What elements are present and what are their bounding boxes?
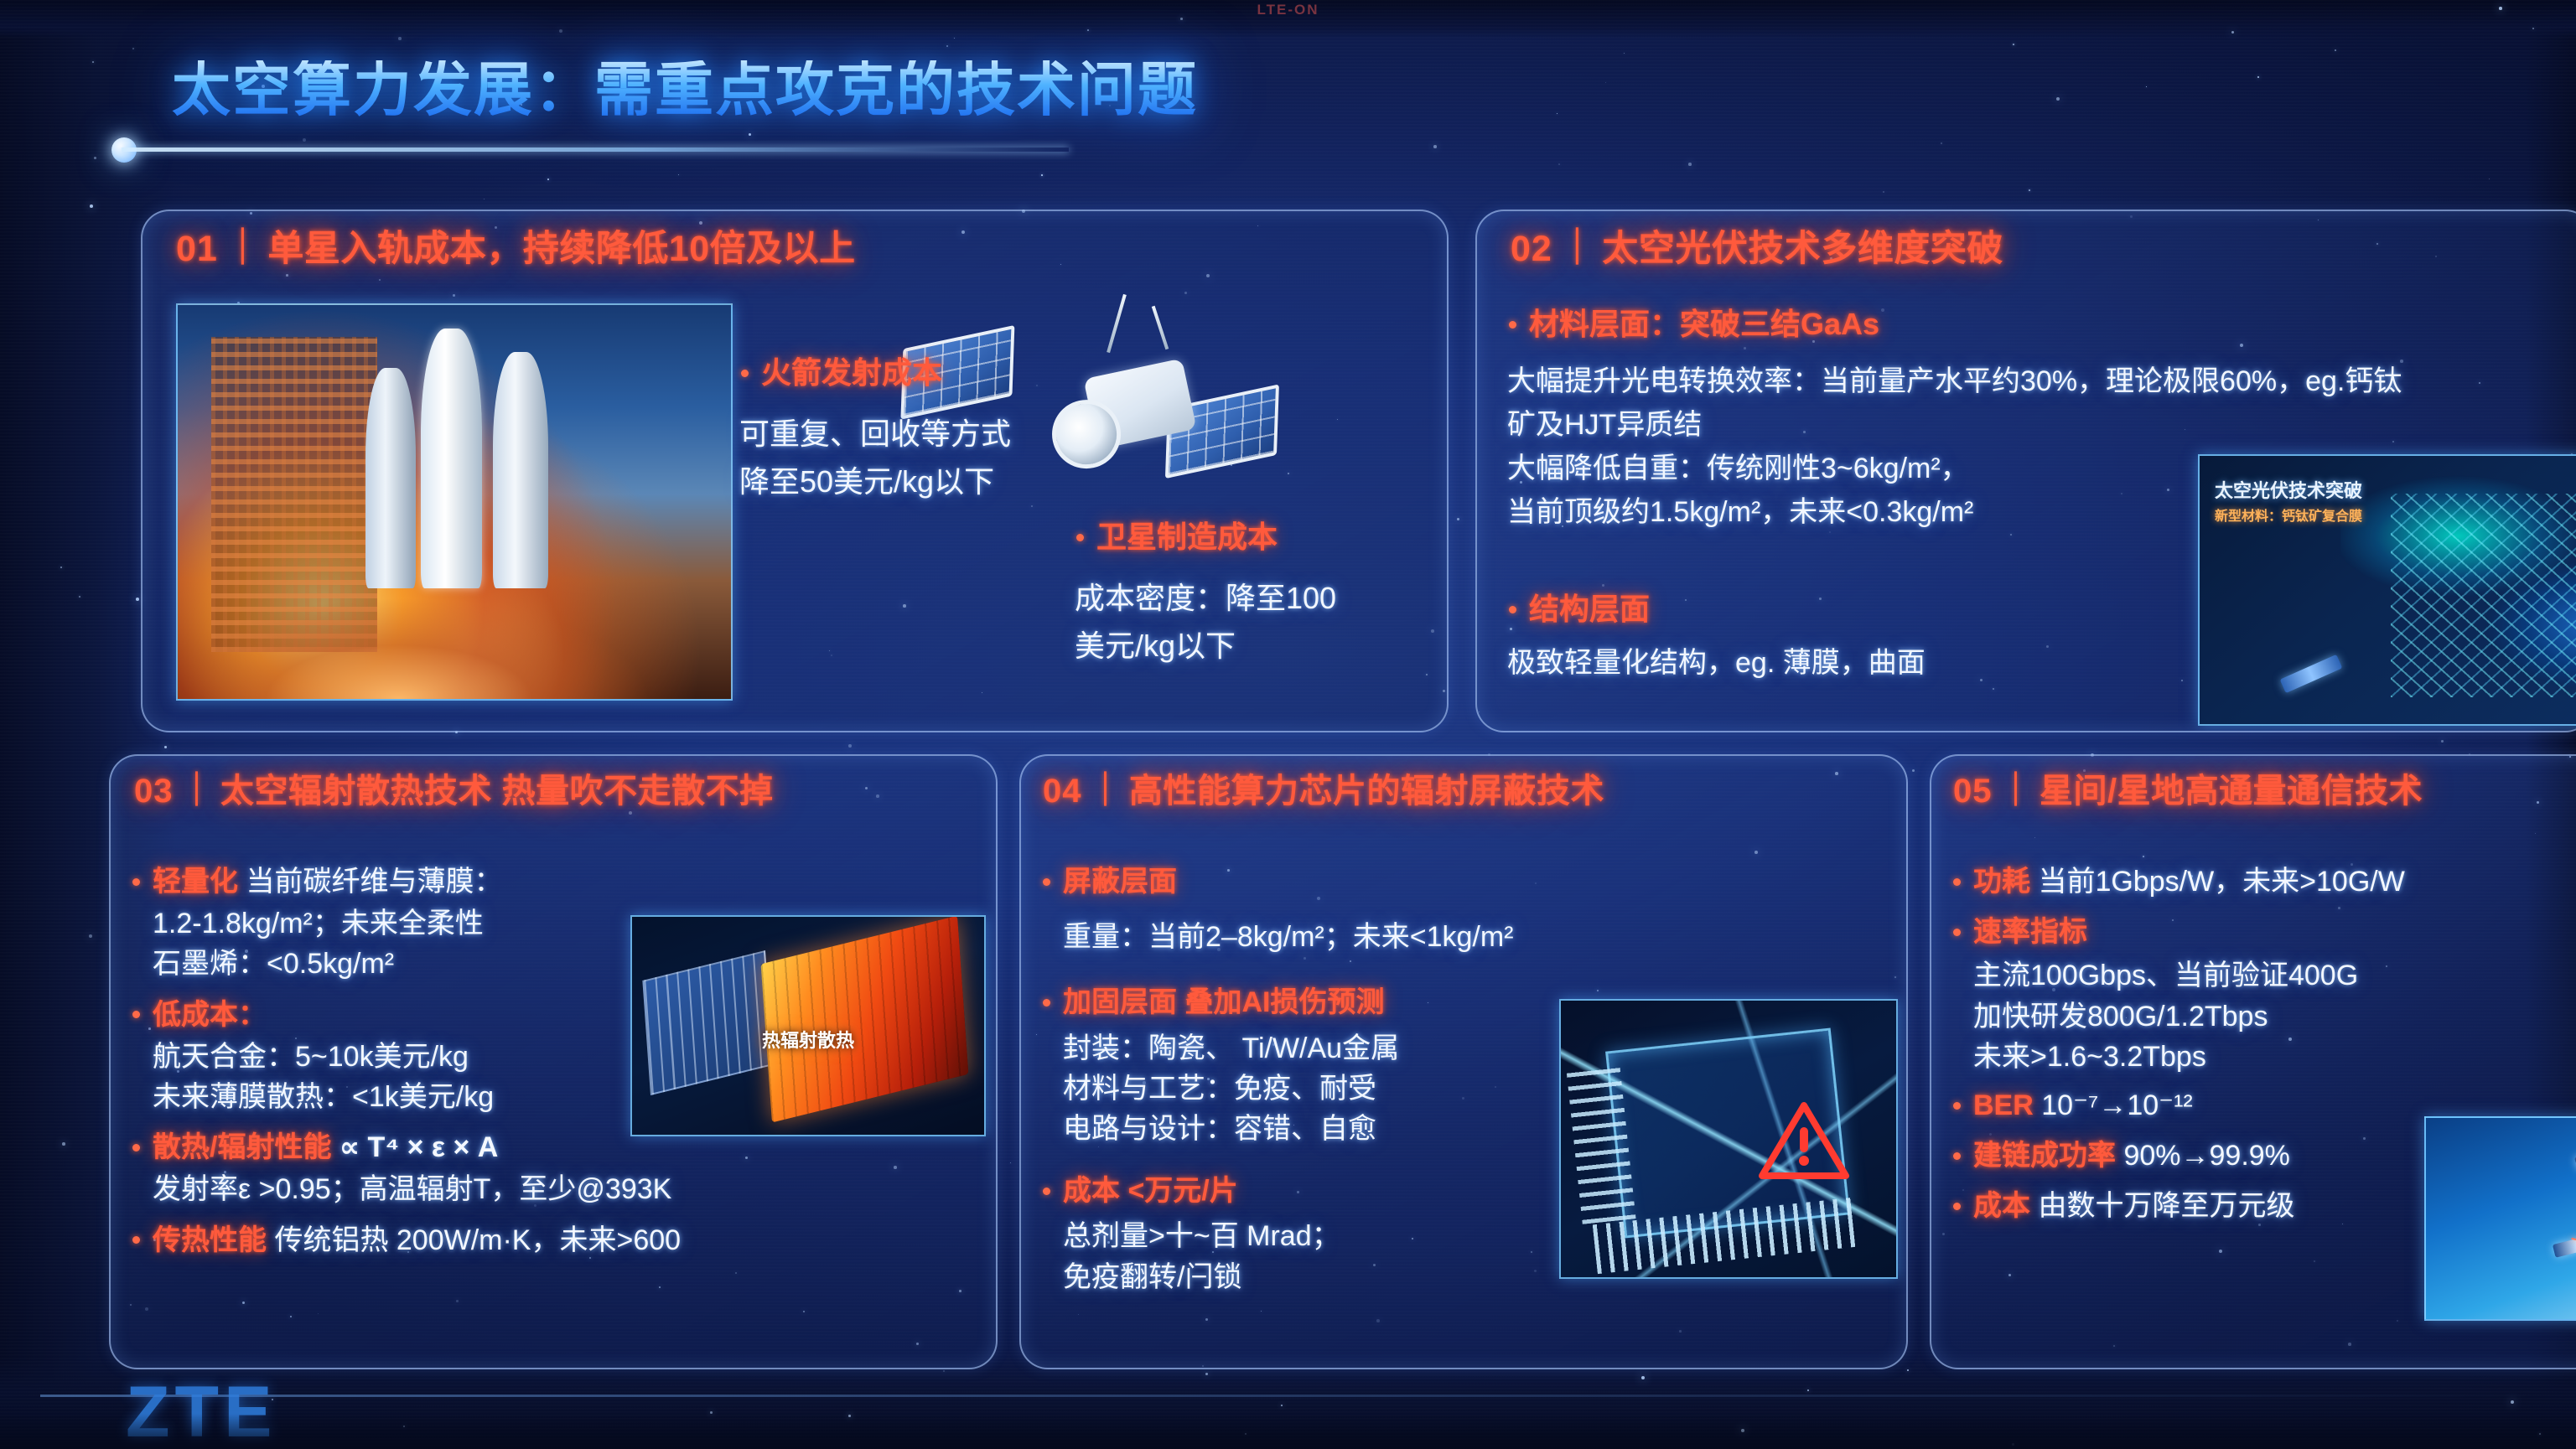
card-01-block-2: 卫星制造成本 成本密度：降至100 美元/kg以下 [1075, 518, 1427, 665]
card-03-title: 太空辐射散热技术 热量吹不走散不掉 [220, 773, 774, 810]
card-05-block-2-line-1: 主流100Gbps、当前验证400G [1973, 957, 2538, 994]
card-03-block-1-tail: 当前碳纤维与薄膜： [246, 866, 502, 898]
slide-title-block: 太空算力发展：需重点攻克的技术问题 [172, 60, 1597, 161]
card-01-block-2-line-2: 美元/kg以下 [1075, 627, 1427, 666]
card-03-block-4-hot: 传热性能 [153, 1224, 267, 1256]
card-05-block-1-hot: 功耗 [1973, 866, 2030, 898]
card-02-block-1-line-4: 当前顶级约1.5kg/m²，未来<0.3kg/m² [1507, 494, 2576, 530]
card-03-block-2-label: 低成本： [131, 996, 977, 1033]
rocket-launch-photo [176, 303, 733, 701]
card-02-block-2: 结构层面 极致轻量化结构，eg. 薄膜，曲面 [1507, 590, 2262, 681]
card-01-block-1: 火箭发射成本 可重复、回收等方式 降至50美元/kg以下 [739, 354, 1091, 501]
card-03-block-1-label: 轻量化 当前碳纤维与薄膜： [131, 863, 977, 900]
card-01-title: 单星入轨成本，持续降低10倍及以上 [267, 229, 855, 269]
card-02-block-1-label: 材料层面：突破三结GaAs [1507, 305, 2576, 344]
card-04[interactable]: 04｜高性能算力芯片的辐射屏蔽技术 屏蔽层面 重量：当前2–8kg/m²；未来<… [1019, 754, 1908, 1369]
card-02-title: 太空光伏技术多维度突破 [1602, 229, 2003, 269]
card-01-block-2-line-1: 成本密度：降至100 [1075, 579, 1427, 618]
card-05[interactable]: 05｜星间/星地高通量通信技术 功耗 当前1Gbps/W，未来>10G/W 速率… [1930, 754, 2576, 1369]
bottom-bar [0, 1414, 2576, 1449]
card-02-block-1-line-3: 大幅降低自重：传统刚性3~6kg/m²， [1507, 450, 2576, 487]
card-01-separator: ｜ [218, 230, 268, 267]
card-02-number: 02 [1511, 229, 1552, 269]
card-02-block-2-label: 结构层面 [1507, 590, 2262, 629]
card-03-number: 03 [134, 773, 174, 810]
card-04-block-2-line-1: 封装：陶瓷、 Ti/W/Au金属 [1063, 1030, 1594, 1067]
card-03-heading: 03｜太空辐射散热技术 热量吹不走散不掉 [134, 774, 774, 808]
card-01[interactable]: 01｜单星入轨成本，持续降低10倍及以上 火箭发射成本 可重复、回收等方式 降至… [141, 210, 1449, 732]
card-03-block-3-tail: ∝ T⁴ × ε × A [339, 1131, 498, 1163]
card-04-block-1-line-1: 重量：当前2–8kg/m²；未来<1kg/m² [1063, 919, 1594, 955]
card-04-title: 高性能算力芯片的辐射屏蔽技术 [1129, 773, 1604, 810]
card-04-block-2-line-3: 电路与设计：容错、自愈 [1063, 1110, 1594, 1147]
card-05-block-4-hot: 建链成功率 [1973, 1140, 2116, 1172]
card-04-number: 04 [1043, 773, 1082, 810]
card-01-block-1-label: 火箭发射成本 [739, 354, 1091, 393]
card-02-block-2-line-1: 极致轻量化结构，eg. 薄膜，曲面 [1507, 644, 2262, 681]
watermark-text: LTE-ON [1257, 2, 1319, 18]
card-03[interactable]: 03｜太空辐射散热技术 热量吹不走散不掉 热辐射散热 轻量化 当前碳纤维与薄膜：… [109, 754, 998, 1369]
card-03-block-1-line-1: 1.2-1.8kg/m²；未来全柔性 [153, 905, 977, 942]
card-05-block-3-label: BER 10⁻⁷→10⁻¹² [1951, 1087, 2538, 1124]
card-05-number: 05 [1953, 773, 1993, 810]
card-03-block-1-line-2: 石墨烯：<0.5kg/m² [153, 945, 977, 982]
card-03-block-3-label: 散热/辐射性能 ∝ T⁴ × ε × A [131, 1129, 977, 1166]
card-05-body: 功耗 当前1Gbps/W，未来>10G/W 速率指标 主流100Gbps、当前验… [1951, 863, 2538, 1225]
card-03-block-4-label: 传热性能 传统铝热 200W/m·K，未来>600 [131, 1222, 977, 1259]
card-04-block-3-line-1: 总剂量>十~百 Mrad； [1063, 1218, 1594, 1255]
card-05-block-1-label: 功耗 当前1Gbps/W，未来>10G/W [1951, 863, 2538, 900]
page-title: 太空算力发展：需重点攻克的技术问题 [172, 60, 1597, 119]
card-01-block-1-line-2: 降至50美元/kg以下 [739, 463, 1091, 502]
card-04-heading: 04｜高性能算力芯片的辐射屏蔽技术 [1043, 774, 1604, 808]
bottom-divider [40, 1395, 2538, 1397]
card-02-heading: 02｜太空光伏技术多维度突破 [1511, 231, 2003, 267]
card-04-block-2-label: 加固层面 叠加AI损伤预测 [1041, 984, 1594, 1021]
card-04-body: 屏蔽层面 重量：当前2–8kg/m²；未来<1kg/m² 加固层面 叠加AI损伤… [1041, 863, 1594, 1296]
card-04-block-1-label: 屏蔽层面 [1041, 863, 1594, 900]
card-05-block-5-hot: 成本 [1973, 1190, 2030, 1222]
card-05-block-5-tail: 由数十万降至万元级 [2038, 1190, 2294, 1222]
card-03-block-3-line-1: 发射率ε >0.95；高温辐射T，至少@393K [153, 1171, 977, 1208]
card-02-block-1-line-2: 矿及HJT异质结 [1507, 406, 2576, 443]
card-04-block-3-line-2: 免疫翻转/闩锁 [1063, 1259, 1594, 1296]
card-05-block-4-tail: 90%→99.9% [2123, 1140, 2289, 1172]
card-05-block-2-line-2: 加快研发800G/1.2Tbps [1973, 998, 2538, 1035]
card-03-separator: ｜ [174, 774, 221, 807]
card-05-separator: ｜ [1993, 774, 2040, 807]
card-05-block-3-hot: BER [1973, 1089, 2034, 1121]
title-underline [122, 147, 1069, 152]
card-03-block-1-hot: 轻量化 [153, 866, 238, 898]
card-02[interactable]: 02｜太空光伏技术多维度突破 太空光伏技术突破 新型材料：钙钛矿复合膜 材料层面… [1475, 210, 2576, 732]
card-05-block-2-label: 速率指标 [1951, 913, 2538, 950]
card-05-block-5-label: 成本 由数十万降至万元级 [1951, 1188, 2538, 1224]
card-05-block-1-tail: 当前1Gbps/W，未来>10G/W [2038, 866, 2404, 898]
card-01-block-1-line-1: 可重复、回收等方式 [739, 415, 1091, 454]
card-03-body: 轻量化 当前碳纤维与薄膜： 1.2-1.8kg/m²；未来全柔性 石墨烯：<0.… [131, 863, 977, 1259]
card-03-block-2-line-1: 航天合金：5~10k美元/kg [153, 1038, 977, 1075]
card-04-block-3-label: 成本 <万元/片 [1041, 1172, 1594, 1209]
card-05-heading: 05｜星间/星地高通量通信技术 [1953, 774, 2423, 808]
card-05-block-4-label: 建链成功率 90%→99.9% [1951, 1137, 2538, 1174]
card-04-separator: ｜ [1082, 774, 1130, 807]
card-02-block-1-line-1: 大幅提升光电转换效率：当前量产水平约30%，理论极限60%，eg.钙钛 [1507, 363, 2576, 400]
card-01-number: 01 [176, 229, 218, 269]
slide-stage: LTE-ON 太空算力发展：需重点攻克的技术问题 01｜单星入轨成本，持续降低1… [0, 0, 2576, 1449]
card-05-title: 星间/星地高通量通信技术 [2040, 773, 2423, 810]
card-05-block-3-tail: 10⁻⁷→10⁻¹² [2041, 1089, 2192, 1121]
warning-triangle-icon [1759, 1100, 1849, 1181]
card-03-block-3-hot: 散热/辐射性能 [153, 1131, 331, 1163]
radiation-shield-chip-photo [1559, 999, 1898, 1279]
card-03-block-4-tail: 传统铝热 200W/m·K，未来>600 [274, 1224, 681, 1256]
card-04-block-2-line-2: 材料与工艺：免疫、耐受 [1063, 1070, 1594, 1107]
card-05-block-2-line-3: 未来>1.6~3.2Tbps [1973, 1038, 2538, 1075]
card-03-block-2-line-2: 未来薄膜散热：<1k美元/kg [153, 1079, 977, 1115]
card-02-separator: ｜ [1552, 230, 1603, 267]
card-02-block-1: 材料层面：突破三结GaAs 大幅提升光电转换效率：当前量产水平约30%，理论极限… [1507, 305, 2576, 531]
card-01-block-2-label: 卫星制造成本 [1075, 518, 1427, 557]
card-01-heading: 01｜单星入轨成本，持续降低10倍及以上 [176, 231, 856, 267]
